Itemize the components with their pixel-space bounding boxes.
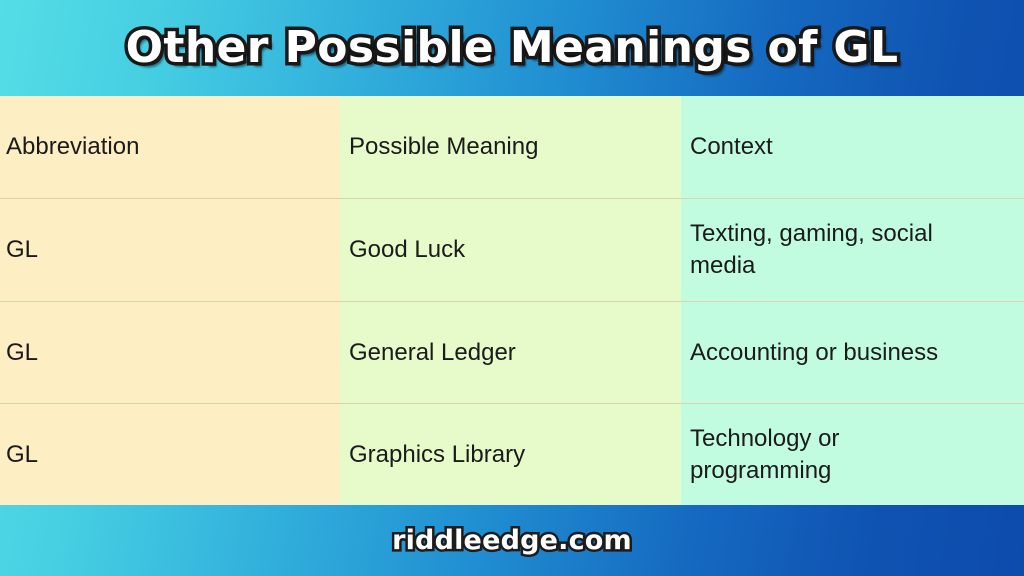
table-row: GL Good Luck Texting, gaming, social med… xyxy=(0,198,1024,301)
infographic-card: Other Possible Meanings of GL Abbreviati… xyxy=(0,0,1024,576)
cell-possible-meaning-text: Graphics Library xyxy=(349,439,525,471)
column-header-context: Context xyxy=(681,96,1024,198)
column-header-possible-meaning: Possible Meaning xyxy=(340,96,681,198)
meanings-table: Abbreviation Possible Meaning Context GL… xyxy=(0,96,1024,505)
cell-possible-meaning-text: Good Luck xyxy=(349,234,465,266)
cell-context: Texting, gaming, social media xyxy=(681,199,1024,301)
cell-context-text: Accounting or business xyxy=(690,337,938,369)
column-header-context-label: Context xyxy=(690,131,773,163)
cell-possible-meaning: Good Luck xyxy=(340,199,681,301)
page-title: Other Possible Meanings of GL xyxy=(126,26,899,70)
table-row: GL General Ledger Accounting or business xyxy=(0,301,1024,403)
cell-context-text: Texting, gaming, social media xyxy=(690,218,982,281)
cell-abbreviation: GL xyxy=(0,302,340,403)
column-header-possible-meaning-label: Possible Meaning xyxy=(349,131,538,163)
title-band: Other Possible Meanings of GL xyxy=(0,0,1024,96)
cell-context-text: Technology or programming xyxy=(690,423,982,486)
cell-context: Accounting or business xyxy=(681,302,1024,403)
footer-band: riddleedge.com xyxy=(0,505,1024,576)
cell-context: Technology or programming xyxy=(681,404,1024,505)
cell-possible-meaning: General Ledger xyxy=(340,302,681,403)
cell-possible-meaning: Graphics Library xyxy=(340,404,681,505)
site-watermark: riddleedge.com xyxy=(392,525,632,556)
table-header-row: Abbreviation Possible Meaning Context xyxy=(0,96,1024,198)
cell-abbreviation-text: GL xyxy=(6,439,38,471)
cell-abbreviation: GL xyxy=(0,404,340,505)
cell-possible-meaning-text: General Ledger xyxy=(349,337,516,369)
cell-abbreviation: GL xyxy=(0,199,340,301)
cell-abbreviation-text: GL xyxy=(6,234,38,266)
table-row: GL Graphics Library Technology or progra… xyxy=(0,403,1024,505)
column-header-abbreviation-label: Abbreviation xyxy=(6,131,139,163)
column-header-abbreviation: Abbreviation xyxy=(0,96,340,198)
cell-abbreviation-text: GL xyxy=(6,337,38,369)
